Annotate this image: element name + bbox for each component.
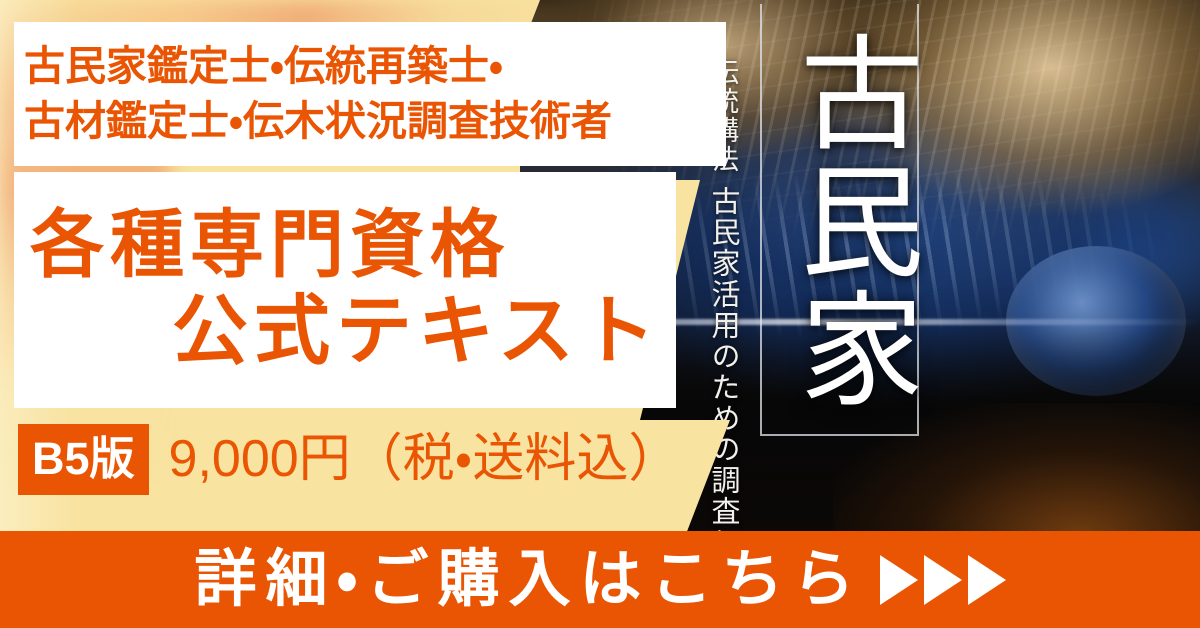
format-badge: B5版: [18, 424, 149, 495]
price-row: B5版 9,000円（税・送料込）: [18, 423, 680, 495]
triangle-right-icon: [924, 555, 962, 605]
main-headline-line-1: 各種専門資格: [14, 206, 676, 284]
promo-banner: 古民家 伝統構法 古民家活用のための調査と再生の 古民家鑑定士・伝統再築士・ 古…: [0, 0, 1200, 628]
qualifications-line-2: 古材鑑定士・伝木状況調査技術者: [24, 94, 726, 149]
triangle-right-icon: [880, 555, 918, 605]
main-headline: 各種専門資格 公式テキスト: [14, 172, 676, 408]
cta-label: 詳細・ご購入はこちら: [194, 549, 863, 611]
qualifications-headline: 古民家鑑定士・伝統再築士・ 古材鑑定士・伝木状況調査技術者: [14, 22, 726, 166]
cta-bar[interactable]: 詳細・ご購入はこちら: [0, 531, 1200, 628]
triangle-right-icon: [968, 555, 1006, 605]
qualifications-line-1: 古民家鑑定士・伝統再築士・: [24, 39, 726, 94]
price-amount: 9,000円（税・送料込）: [169, 433, 681, 485]
cta-arrows: [880, 555, 1006, 605]
book-cover-title: 古民家: [760, 6, 915, 436]
main-headline-line-2: 公式テキスト: [14, 290, 676, 374]
